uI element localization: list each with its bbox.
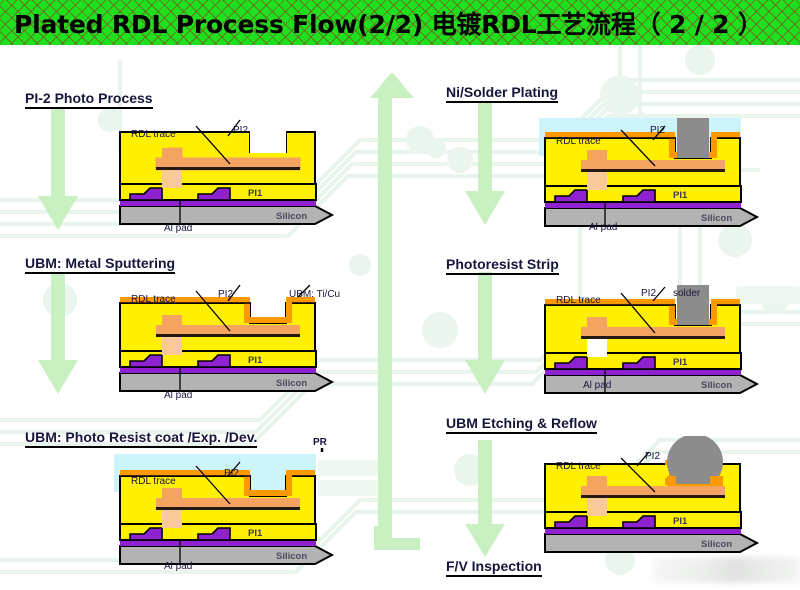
label-al-pad-step2: Al pad xyxy=(164,390,192,401)
svg-text:PI1: PI1 xyxy=(673,190,688,201)
step-title-ubm-metal-sputtering: UBM: Metal Sputtering xyxy=(25,255,175,274)
label-rdl-trace-step3: RDL trace xyxy=(131,476,176,487)
svg-text:PI1: PI1 xyxy=(248,528,263,539)
label-ubm-ticu-step2: UBM: Ti/Cu xyxy=(289,289,340,300)
svg-text:Silicon: Silicon xyxy=(701,539,732,550)
arrow-down-step2-to-step3 xyxy=(38,272,78,397)
page-title: Plated RDL Process Flow(2/2) 电镀RDL工艺流程（ … xyxy=(14,5,763,41)
label-silicon: Silicon xyxy=(276,211,307,222)
label-rdl-trace-step5: RDL trace xyxy=(556,295,601,306)
svg-text:PI1: PI1 xyxy=(248,355,263,366)
label-pi1: PI1 xyxy=(248,188,263,199)
label-pi2-step5: PI2 xyxy=(641,288,656,299)
label-al-pad-step1: Al pad xyxy=(164,223,192,234)
label-pi2-step3: PI2 xyxy=(224,468,239,479)
step-title-fv-inspection: F/V Inspection xyxy=(446,558,542,577)
label-rdl-trace-step1: RDL trace xyxy=(131,129,176,140)
arrow-down-step6-to-step7 xyxy=(465,440,505,560)
slide-title-bar: Plated RDL Process Flow(2/2) 电镀RDL工艺流程（ … xyxy=(0,0,800,45)
svg-text:PI1: PI1 xyxy=(673,516,688,527)
label-pi2-step1: PI2 xyxy=(233,125,248,136)
process-flow-canvas: PI-2 Photo Process PI1 xyxy=(0,0,800,590)
step-title-ubm-etching-reflow: UBM Etching & Reflow xyxy=(446,415,597,434)
arrow-connector-riser xyxy=(388,72,448,562)
step-title-ubm-photo-resist-coat: UBM: Photo Resist coat /Exp. /Dev. xyxy=(25,429,257,448)
label-al-pad-step5: Al pad xyxy=(583,380,611,391)
label-pi2-step4: PI2 xyxy=(650,125,665,136)
label-rdl-trace-step2: RDL trace xyxy=(131,294,176,305)
svg-text:Silicon: Silicon xyxy=(701,213,732,224)
step-title-ni-solder-plating: Ni/Solder Plating xyxy=(446,84,558,103)
label-rdl-trace-step6: RDL trace xyxy=(556,461,601,472)
cross-section-ubm-photo-resist-coat: PI1 Silicon xyxy=(100,448,355,568)
svg-text:Silicon: Silicon xyxy=(276,378,307,389)
svg-text:Silicon: Silicon xyxy=(701,380,732,391)
label-al-pad-step4: Al pad xyxy=(589,222,617,233)
label-pi2-step6: PI2 xyxy=(645,451,660,462)
svg-text:Silicon: Silicon xyxy=(276,551,307,562)
label-pr-step3: PR xyxy=(313,437,327,448)
step-title-pi-2-photo-process: PI-2 Photo Process xyxy=(25,90,153,109)
arrow-down-step1-to-step2 xyxy=(38,108,78,233)
label-solder-step5: solder xyxy=(673,288,700,299)
label-al-pad-step3: Al pad xyxy=(164,561,192,572)
svg-text:PI1: PI1 xyxy=(673,357,688,368)
label-rdl-trace-step4: RDL trace xyxy=(556,136,601,147)
arrow-down-step4-to-step5 xyxy=(465,103,505,228)
step-title-photoresist-strip: Photoresist Strip xyxy=(446,256,559,275)
label-pi2-step2: PI2 xyxy=(218,289,233,300)
arrow-down-step5-to-step6 xyxy=(465,272,505,397)
